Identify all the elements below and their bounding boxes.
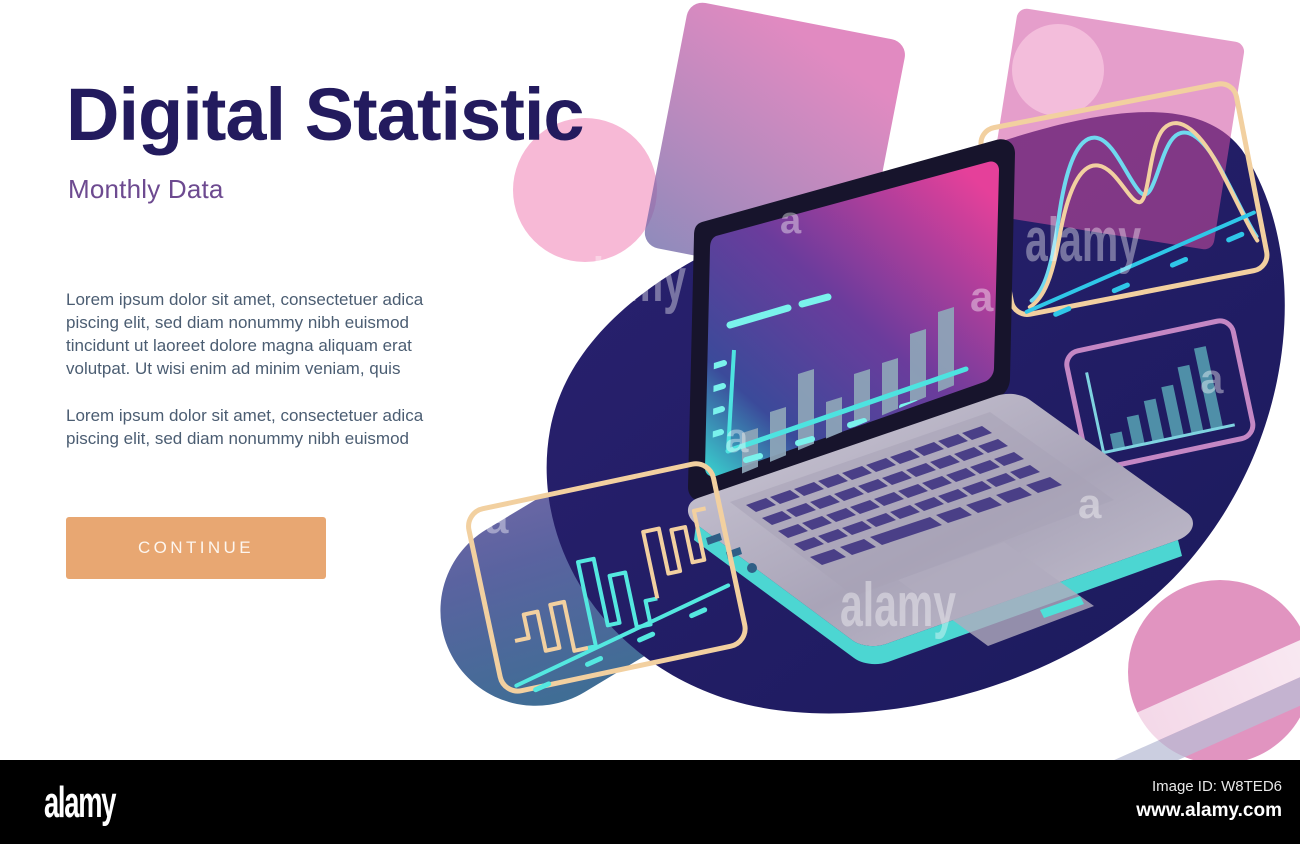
alamy-url-label: www.alamy.com bbox=[1136, 800, 1282, 822]
alamy-logo: alamy bbox=[44, 778, 115, 828]
continue-button[interactable]: CONTINUE bbox=[66, 517, 326, 579]
hero-text-panel: Digital Statistic Monthly Data Lorem ips… bbox=[66, 78, 486, 579]
image-id-label: Image ID: W8TED6 bbox=[1152, 778, 1282, 795]
page-title: Digital Statistic bbox=[66, 78, 486, 152]
stock-watermark-bar: alamy Image ID: W8TED6 www.alamy.com bbox=[0, 760, 1300, 844]
decor-pink-circle-topright bbox=[1012, 24, 1104, 116]
page-subtitle: Monthly Data bbox=[68, 174, 486, 205]
body-paragraph-1: Lorem ipsum dolor sit amet, consectetuer… bbox=[66, 289, 444, 381]
landing-page-stage: a a a a a a alamy alamy alamy Digital St… bbox=[0, 0, 1300, 844]
body-paragraph-2: Lorem ipsum dolor sit amet, consectetuer… bbox=[66, 405, 444, 451]
